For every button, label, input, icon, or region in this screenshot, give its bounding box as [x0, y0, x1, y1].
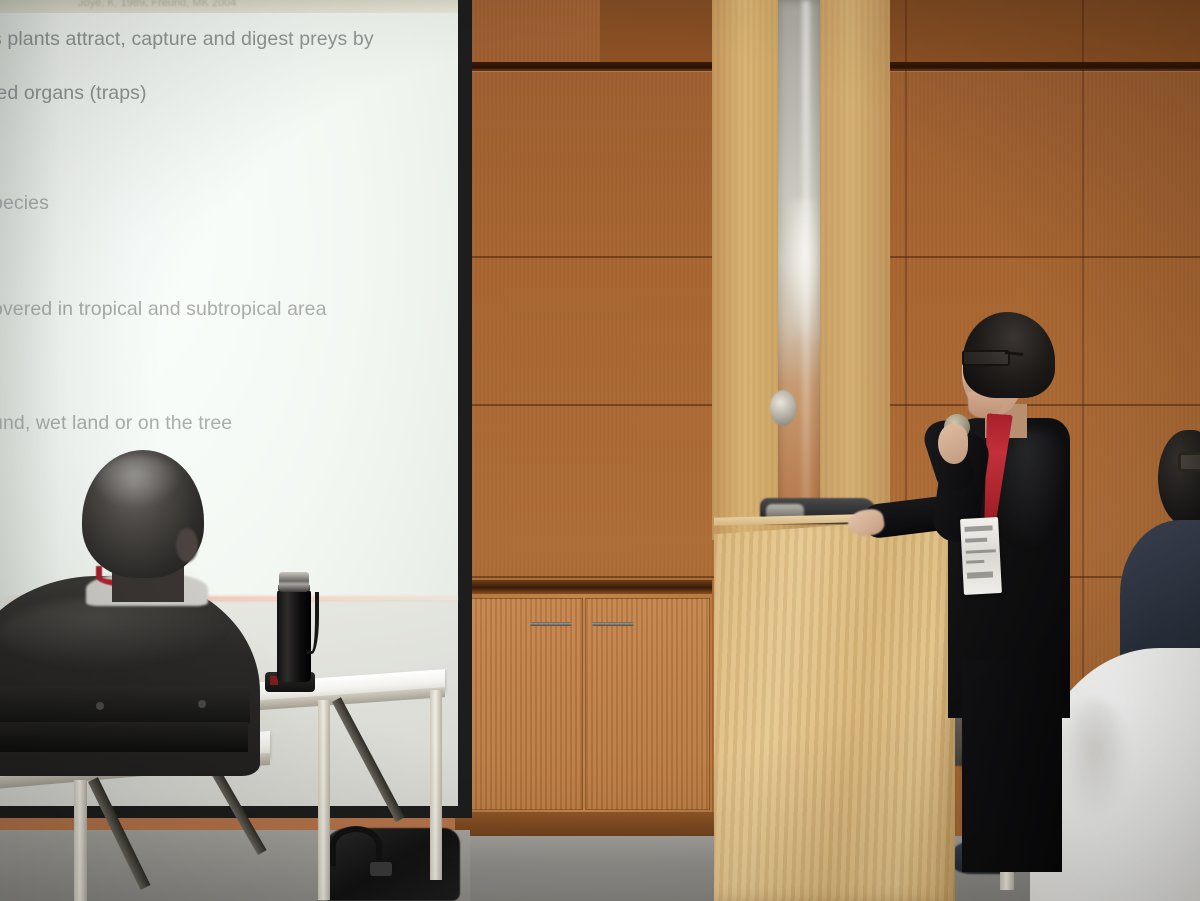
attendee-shoulder-highlight [0, 598, 230, 668]
chair-rivet [198, 700, 206, 708]
cabinet-door-right[interactable] [585, 598, 710, 810]
badge-text-line [966, 549, 996, 554]
cabinet-handle-right[interactable] [592, 622, 634, 626]
presenter-legs [962, 660, 1062, 872]
badge-text-line [964, 525, 992, 531]
chair-rivet [96, 702, 104, 710]
wall-disc-fixture [770, 390, 796, 426]
slide-bullet-line-4: overed in tropical and subtropical area [0, 298, 327, 321]
slide-bullet-line-3: pecies [0, 192, 49, 215]
thermos-cap [279, 572, 309, 592]
attendee-ear [176, 528, 198, 562]
desk-leg [430, 690, 442, 880]
eyeglasses-icon [1178, 452, 1200, 472]
glass-highlight [802, 0, 810, 520]
badge-text-line [966, 560, 984, 564]
thermos-flask [277, 590, 311, 682]
cabinet-door-left[interactable] [464, 598, 583, 810]
desk-leg [74, 780, 87, 901]
white-jacket-fold [1060, 700, 1130, 820]
cabinet-plinth [455, 812, 717, 838]
badge-text-line [965, 538, 987, 543]
slide-citation: Joye, K. 1989, Freund, MK 2004 [78, 0, 236, 9]
chair-backrest [0, 686, 250, 726]
conference-room-photo: Joye, K. 1989, Freund, MK 2004 s plants … [0, 0, 1200, 901]
cabinet-top-rail [460, 580, 712, 594]
presenter-shoulder-highlight [1000, 430, 1068, 550]
backpack-buckle [370, 862, 392, 876]
chair-frame [0, 722, 248, 752]
attendee-hair-highlight [96, 456, 182, 508]
cabinet-handle-left[interactable] [530, 622, 572, 626]
podium-lectern [714, 517, 955, 901]
backpack-strap [330, 826, 382, 866]
presenter-right-hand [938, 424, 968, 464]
badge-text-line [967, 571, 993, 578]
name-badge [960, 517, 1002, 595]
slide-bullet-line-2: ied organs (traps) [0, 82, 147, 105]
wall-upper-band [600, 0, 1200, 62]
eyeglasses-icon [962, 350, 1010, 366]
desk-leg [318, 700, 330, 900]
slide-bullet-line-1: s plants attract, capture and digest pre… [0, 28, 374, 51]
slide-bullet-line-5: und, wet land or on the tree [0, 412, 232, 435]
